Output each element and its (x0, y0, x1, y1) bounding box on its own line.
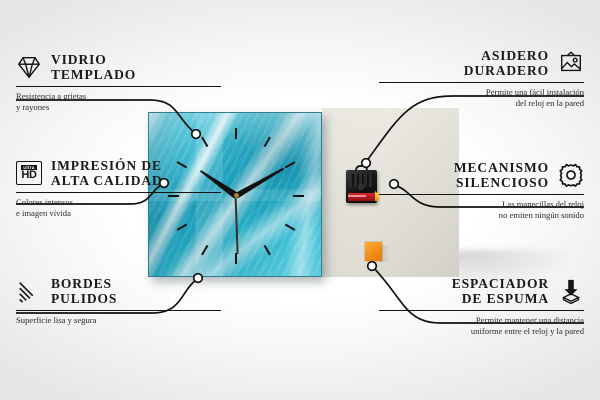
feature-foam-spacer: ESPACIADOR DE ESPUMA Permite mantener un… (379, 276, 584, 336)
dial-tick (235, 253, 237, 264)
feature-header: ultra HD IMPRESIÓN DE ALTA CALIDAD (16, 158, 221, 188)
feature-rule (16, 86, 221, 87)
clock-movement: + (346, 170, 377, 203)
framed-picture-icon (558, 50, 584, 76)
dial-tick (285, 223, 296, 230)
feature-hd-print: ultra HD IMPRESIÓN DE ALTA CALIDAD Color… (16, 158, 221, 218)
dial-tick (201, 244, 208, 255)
foam-spacer (365, 242, 382, 261)
feature-rule (16, 192, 221, 193)
dial-tick (235, 128, 237, 139)
feature-title: BORDES PULIDOS (51, 276, 117, 306)
feature-header: VIDRIO TEMPLADO (16, 52, 221, 82)
feature-header: ASIDERO DURADERO (379, 48, 584, 78)
dial-tick (285, 161, 296, 168)
feature-polished-edges: BORDES PULIDOS Superficie lisa y segura (16, 276, 221, 326)
infographic-stage: + (0, 0, 600, 400)
feature-desc: Las manecillas del reloj no emiten ningú… (379, 199, 584, 220)
dial-tick (201, 136, 208, 147)
feature-rule (379, 310, 584, 311)
feature-desc: Colores intensos e imagen vívida (16, 197, 221, 218)
feature-silent-mechanism: MECANISMO SILENCIOSO Las manecillas del … (379, 160, 584, 220)
feature-desc: Permite una fácil instalación del reloj … (379, 87, 584, 108)
feature-header: MECANISMO SILENCIOSO (379, 160, 584, 190)
dial-tick (264, 244, 271, 255)
ultra-hd-text: HD (21, 170, 36, 181)
feature-rule (16, 310, 221, 311)
feature-rule (379, 82, 584, 83)
feature-header: BORDES PULIDOS (16, 276, 221, 306)
gear-icon (558, 162, 584, 188)
feature-desc: Superficie lisa y segura (16, 315, 221, 326)
feature-desc: Permite mantener una distancia uniforme … (379, 315, 584, 336)
feature-title: MECANISMO SILENCIOSO (454, 160, 549, 190)
battery (348, 193, 375, 201)
dial-tick (293, 195, 304, 197)
feature-title: IMPRESIÓN DE ALTA CALIDAD (51, 158, 163, 188)
feature-title: ASIDERO DURADERO (464, 48, 549, 78)
battery-plus-sign: + (373, 191, 378, 195)
hand-hub (234, 193, 239, 198)
feature-title: ESPACIADOR DE ESPUMA (452, 276, 549, 306)
diamond-icon (16, 54, 42, 80)
feature-rule (379, 194, 584, 195)
dial-tick (264, 136, 271, 147)
movement-shaft (358, 184, 364, 190)
polished-edges-icon (16, 278, 42, 304)
second-hand (235, 195, 239, 253)
dial-tick (177, 223, 188, 230)
ultra-hd-icon: ultra HD (16, 161, 42, 185)
feature-tempered-glass: VIDRIO TEMPLADO Resistencia a grietas y … (16, 52, 221, 112)
minute-hand (235, 165, 286, 198)
feature-title: VIDRIO TEMPLADO (51, 52, 136, 82)
feature-durable-hanger: ASIDERO DURADERO Permite una fácil insta… (379, 48, 584, 108)
feature-header: ESPACIADOR DE ESPUMA (379, 276, 584, 306)
feature-desc: Resistencia a grietas y rayones (16, 91, 221, 112)
down-arrow-plate-icon (558, 278, 584, 304)
